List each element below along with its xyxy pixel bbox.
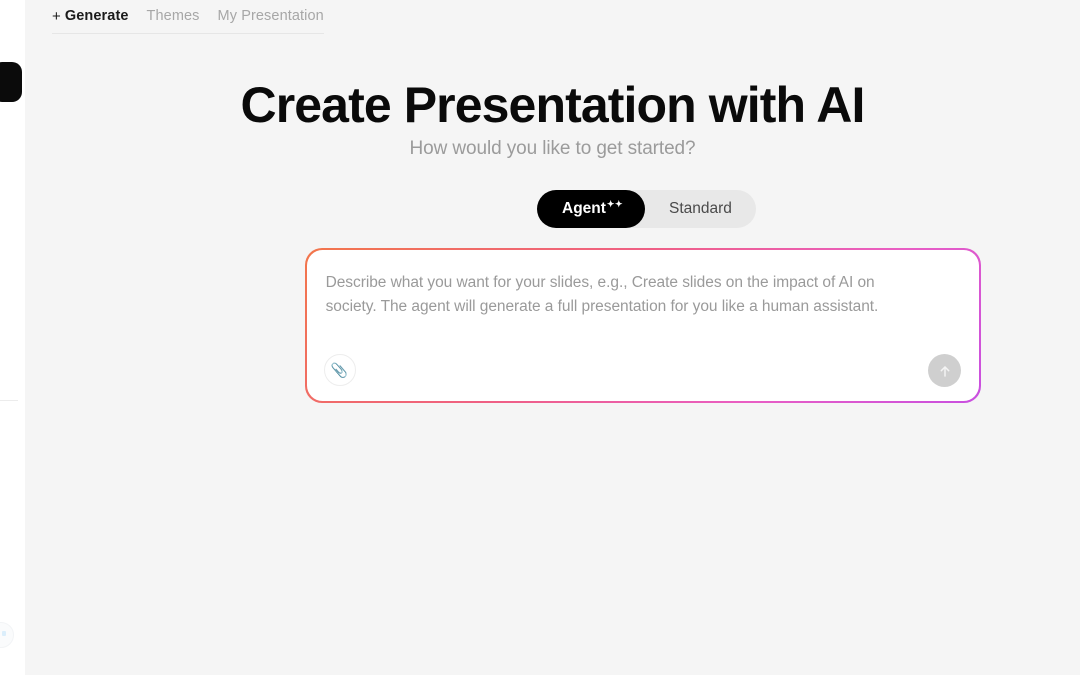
- tab-generate[interactable]: + Generate: [52, 9, 129, 24]
- sparkle-icon: ✦✦: [607, 199, 623, 210]
- tab-themes[interactable]: Themes: [147, 9, 200, 24]
- plus-icon: +: [52, 9, 61, 24]
- tab-my-presentation[interactable]: My Presentation: [218, 9, 324, 24]
- sidebar-collapse-tab[interactable]: [0, 62, 22, 102]
- send-button[interactable]: [928, 354, 961, 387]
- page-title: Create Presentation with AI: [25, 78, 1080, 133]
- paperclip-icon: 📎: [331, 363, 348, 377]
- arrow-up-icon: [937, 363, 953, 379]
- prompt-input-placeholder[interactable]: Describe what you want for your slides, …: [326, 271, 926, 319]
- mode-option-agent-label: Agent: [562, 200, 606, 218]
- page-subtitle: How would you like to get started?: [25, 138, 1080, 160]
- avatar[interactable]: [0, 622, 14, 648]
- avatar-dot: [2, 631, 6, 636]
- mode-option-standard[interactable]: Standard: [645, 190, 756, 228]
- mode-toggle: Agent✦✦ Standard: [537, 190, 756, 228]
- tab-generate-label: Generate: [65, 9, 129, 24]
- main-content: Create Presentation with AI How would yo…: [25, 33, 1080, 675]
- sidebar-divider: [0, 400, 18, 401]
- prompt-composer-inner[interactable]: Describe what you want for your slides, …: [307, 250, 980, 402]
- top-navigation: + Generate Themes My Presentation: [52, 0, 324, 34]
- mode-option-agent[interactable]: Agent✦✦: [537, 190, 645, 228]
- prompt-composer: Describe what you want for your slides, …: [305, 248, 981, 403]
- app-root: + Generate Themes My Presentation Create…: [0, 0, 1080, 675]
- attach-file-button[interactable]: 📎: [324, 354, 356, 386]
